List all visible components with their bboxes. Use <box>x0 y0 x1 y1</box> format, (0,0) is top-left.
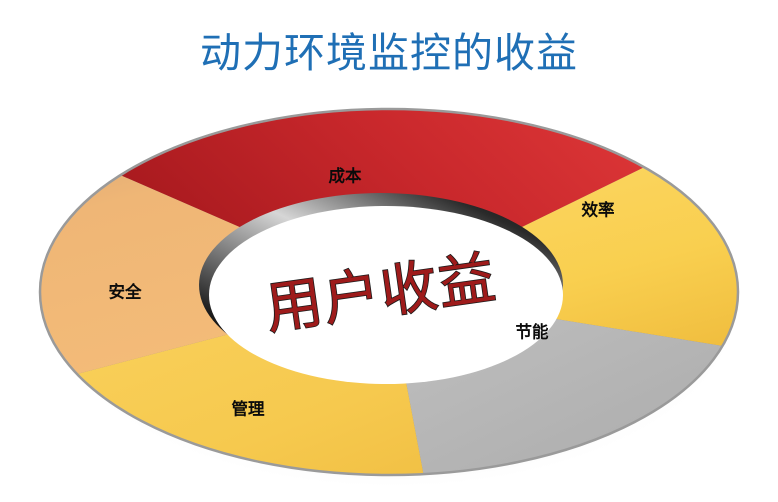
doughnut-chart[interactable]: 用户收益 成本 效率 节能 管理 安全 <box>0 80 778 502</box>
slice-label-anquan: 安全 <box>109 282 143 302</box>
slice-label-xiaolv: 效率 <box>582 200 615 220</box>
slice-label-chengben: 成本 <box>329 166 363 186</box>
doughnut-chart-graphic[interactable]: 用户收益 成本 效率 节能 管理 安全 <box>0 80 778 502</box>
slide-canvas: 动力环境监控的收益 <box>0 0 778 502</box>
slice-label-guanli: 管理 <box>232 399 266 419</box>
page-title: 动力环境监控的收益 <box>0 28 778 78</box>
slice-label-jieneng: 节能 <box>516 322 550 342</box>
